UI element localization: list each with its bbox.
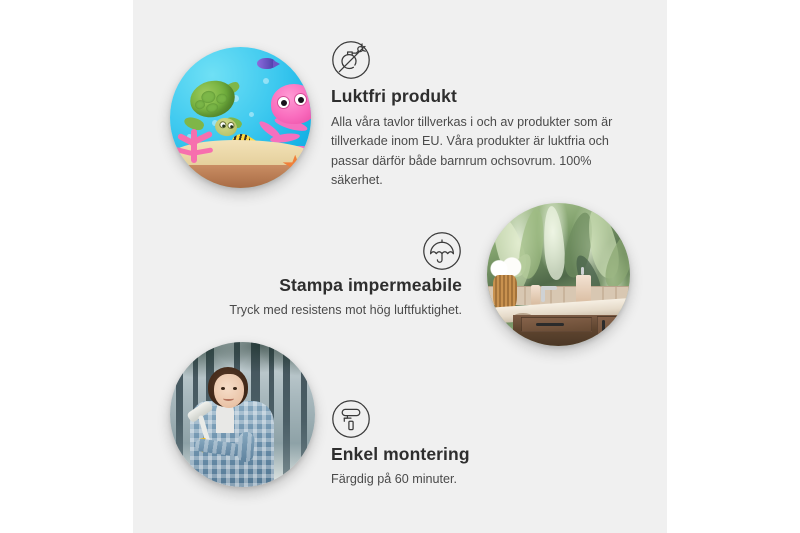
bubble-icon xyxy=(249,112,254,117)
paint-roller-icon xyxy=(331,399,371,439)
feature-title: Luktfri produkt xyxy=(331,86,623,108)
feature-description: Färgdig på 60 minuter. xyxy=(331,470,591,490)
bathroom-wallpaper-photo[interactable] xyxy=(487,203,630,346)
feature-odourless: Luktfri produkt Alla våra tavlor tillver… xyxy=(331,40,623,191)
upper-arm xyxy=(237,431,255,462)
octopus-eye xyxy=(277,96,290,109)
drawer-handle xyxy=(536,323,564,326)
feature-title: Enkel montering xyxy=(331,444,591,466)
feature-title: Stampa impermeabile xyxy=(198,275,462,297)
feature-description: Tryck med resistens mot hög luftfuktighe… xyxy=(198,301,462,321)
umbrella-icon xyxy=(422,231,462,271)
page-root: Luktfri produkt Alla våra tavlor tillver… xyxy=(0,0,800,533)
underwater-cartoon-photo[interactable] xyxy=(170,47,311,188)
feature-assembly: Enkel montering Färgdig på 60 minuter. xyxy=(331,399,591,489)
octopus-head xyxy=(271,84,311,124)
octopus-eye xyxy=(294,93,307,106)
leaf-shape xyxy=(542,205,567,280)
coral-pink xyxy=(173,125,219,165)
fish-blue xyxy=(257,58,275,69)
sea-floor-rock xyxy=(170,165,311,188)
no-fragrance-icon xyxy=(331,40,371,80)
eye xyxy=(221,387,225,390)
soap-bottle xyxy=(531,285,540,305)
vanity-cabinet xyxy=(513,315,630,346)
faucet-spout xyxy=(541,286,557,290)
smile xyxy=(223,396,234,401)
feature-description: Alla våra tavlor tillverkas i och av pro… xyxy=(331,113,623,191)
eye xyxy=(233,387,237,390)
installer-forest-photo[interactable] xyxy=(170,342,315,487)
face xyxy=(214,374,244,408)
door-handle xyxy=(602,320,605,344)
feature-waterproof: Stampa impermeabile Tryck med resistens … xyxy=(198,231,462,320)
